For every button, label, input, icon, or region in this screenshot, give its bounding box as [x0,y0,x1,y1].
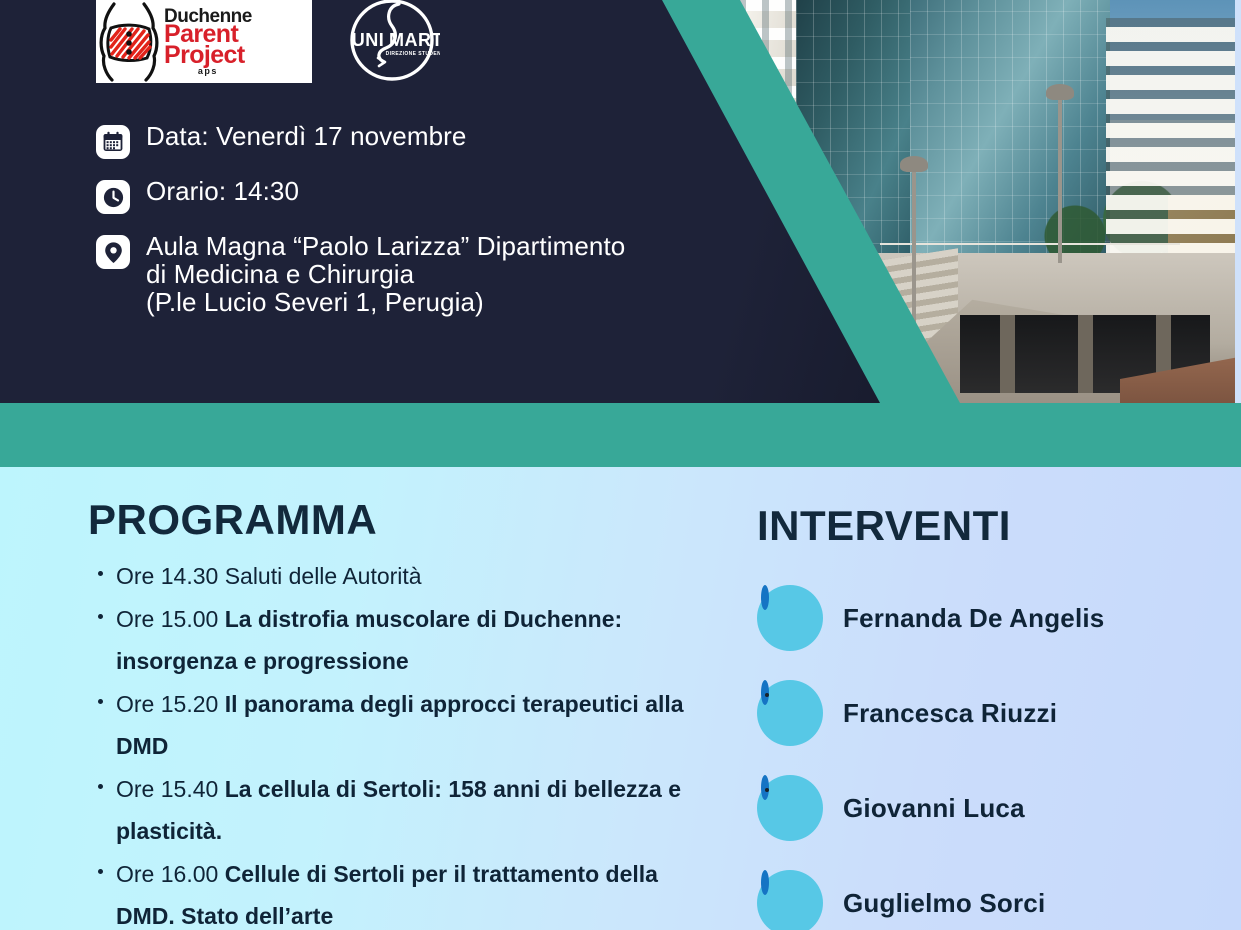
list-item: Fernanda De Angelis [757,585,1227,651]
speaker-name: Fernanda De Angelis [843,603,1104,634]
event-poster: Duchenne Parent Project aps UNI MART DIR… [0,0,1241,930]
avatar-inner-ring [761,585,769,610]
list-item: Francesca Riuzzi [757,680,1227,746]
list-item: Guglielmo Sorci [757,870,1227,930]
right-border-strip [1235,0,1241,403]
avatar [757,585,823,651]
speaker-name: Francesca Riuzzi [843,698,1057,729]
programma-list: Ore 14.30 Saluti delle Autorità Ore 15.0… [88,555,698,930]
bullet-icon [98,571,103,576]
programma-item-time: Ore 14.30 [116,563,225,589]
list-item: Ore 16.00 Cellule di Sertoli per il trat… [88,853,698,930]
underpass-column [1000,315,1015,393]
teal-horizontal-band [0,403,1241,467]
list-item: Ore 14.30 Saluti delle Autorità [88,555,698,598]
svg-text:UNI: UNI [352,30,385,50]
bullet-icon [98,869,103,874]
programma-item-time: Ore 15.00 [116,606,225,632]
hero-section: Duchenne Parent Project aps UNI MART DIR… [0,0,1241,403]
bullet-icon [98,784,103,789]
event-info-location-row: Aula Magna “Paolo Larizza” Dipartimento … [96,232,625,316]
avatar [757,680,823,746]
bullet-icon [98,614,103,619]
list-item: Giovanni Luca [757,775,1227,841]
bullet-icon [98,699,103,704]
avatar-inner-ring [761,870,769,895]
location-pin-icon [96,235,130,269]
speaker-name: Guglielmo Sorci [843,888,1045,919]
programma-item-plain: Saluti delle Autorità [225,563,422,589]
event-location-text: Aula Magna “Paolo Larizza” Dipartimento … [146,232,625,316]
handrail [880,243,1180,245]
interventi-column: INTERVENTI Fern [757,505,1227,930]
avatar [757,870,823,930]
event-time-text: Orario: 14:30 [146,177,299,205]
dpp-line-4: aps [164,65,252,75]
speaker-list: Fernanda De Angelis [757,585,1227,930]
speaker-name: Giovanni Luca [843,793,1025,824]
event-info-date-row: Data: Venerdì 17 novembre [96,122,625,159]
svg-text:DIREZIONE STUDENTI: DIREZIONE STUDENTI [386,51,440,57]
list-item: Ore 15.20 Il panorama degli approcci ter… [88,683,698,768]
list-item: Ore 15.40 La cellula di Sertoli: 158 ann… [88,768,698,853]
avatar-inner-ring [761,775,769,800]
interventi-title: INTERVENTI [757,505,1227,547]
event-info-time-row: Orario: 14:30 [96,177,625,214]
duchenne-parent-project-logo: Duchenne Parent Project aps [96,0,312,83]
event-date-text: Data: Venerdì 17 novembre [146,122,466,150]
clock-icon [96,180,130,214]
list-item: Ore 15.00 La distrofia muscolare di Duch… [88,598,698,683]
programma-item-time: Ore 16.00 [116,861,225,887]
unismart-logo: UNI MART DIREZIONE STUDENTI [344,0,440,84]
programma-title: PROGRAMMA [88,499,698,541]
programma-item-time: Ore 15.40 [116,776,225,802]
right-facade-building [1106,18,1241,268]
duchenne-logo-wordmark: Duchenne Parent Project aps [164,8,252,76]
dpp-line-3: Project [164,45,252,66]
logo-row: Duchenne Parent Project aps UNI MART DIR… [96,0,440,84]
underpass-column [1078,315,1093,393]
avatar-inner-ring [761,680,769,705]
street-lamp [1058,98,1062,263]
calendar-icon [96,125,130,159]
programma-column: PROGRAMMA Ore 14.30 Saluti delle Autorit… [88,499,698,930]
avatar [757,775,823,841]
duchenne-scribble-mark [98,2,160,82]
event-info-list: Data: Venerdì 17 novembre Orario: 14:30 [96,122,625,316]
programma-item-time: Ore 15.20 [116,691,225,717]
